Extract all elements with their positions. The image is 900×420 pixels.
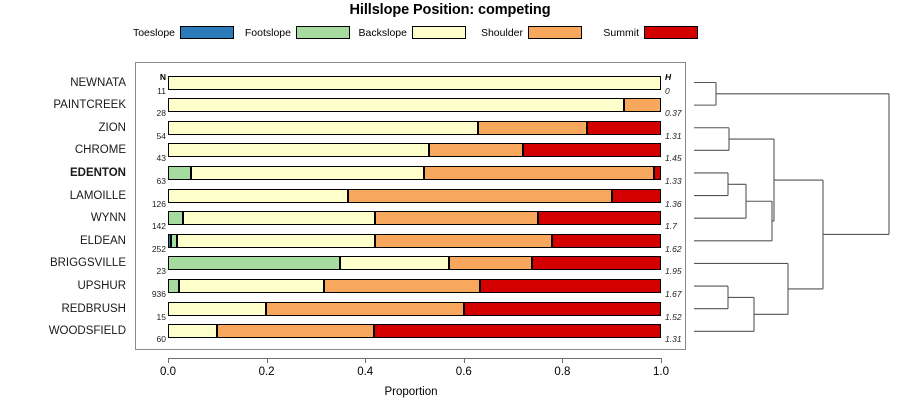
- x-axis-tick: [168, 358, 169, 363]
- bar-segment-summit: [587, 121, 661, 135]
- category-label-zion: ZION: [0, 122, 132, 134]
- bar-segment-summit: [654, 166, 661, 180]
- bar-segment-shoulder: [375, 211, 538, 225]
- bar-segment-summit: [523, 143, 661, 157]
- x-axis-tick: [365, 358, 366, 363]
- legend-swatch-shoulder: [528, 26, 582, 39]
- bar-briggsville: [168, 256, 661, 270]
- x-axis-tick-label: 0.6: [444, 366, 484, 378]
- category-label-redbrush: REDBRUSH: [0, 303, 132, 315]
- n-value: 23: [138, 266, 166, 276]
- category-label-wynn: WYNN: [0, 212, 132, 224]
- category-label-lamoille: LAMOILLE: [0, 190, 132, 202]
- bar-segment-backslope: [183, 211, 375, 225]
- bar-segment-summit: [374, 324, 661, 338]
- n-value: 126: [138, 199, 166, 209]
- chart-root: Hillslope Position: competing ToeslopeFo…: [0, 0, 900, 420]
- x-axis-tick-label: 1.0: [641, 366, 681, 378]
- bar-edenton: [168, 166, 661, 180]
- category-label-paintcreek: PAINTCREEK: [0, 99, 132, 111]
- bar-segment-shoulder: [324, 279, 479, 293]
- bar-segment-shoulder: [449, 256, 533, 270]
- n-value: 15: [138, 312, 166, 322]
- dendrogram: [686, 62, 900, 350]
- legend-label: Toeslope: [133, 26, 175, 40]
- legend-swatch-backslope: [412, 26, 466, 39]
- x-axis-tick: [464, 358, 465, 363]
- category-label-upshur: UPSHUR: [0, 280, 132, 292]
- bar-chrome: [168, 143, 661, 157]
- n-value: 60: [138, 334, 166, 344]
- bar-segment-summit: [480, 279, 661, 293]
- bar-segment-backslope: [191, 166, 424, 180]
- n-value: 54: [138, 131, 166, 141]
- bar-segment-summit: [538, 211, 661, 225]
- category-label-chrome: CHROME: [0, 144, 132, 156]
- n-value: 43: [138, 153, 166, 163]
- bar-segment-footslope: [168, 211, 183, 225]
- bar-segment-backslope: [168, 143, 429, 157]
- bar-segment-shoulder: [624, 98, 661, 112]
- bar-segment-shoulder: [266, 302, 464, 316]
- x-axis-tick-label: 0.4: [345, 366, 385, 378]
- bar-segment-summit: [612, 189, 661, 203]
- x-axis-tick-label: 0.2: [247, 366, 287, 378]
- bar-segment-backslope: [168, 121, 478, 135]
- legend-label: Backslope: [359, 26, 407, 40]
- bar-woodsfield: [168, 324, 661, 338]
- legend-swatch-footslope: [296, 26, 350, 39]
- bar-segment-shoulder: [429, 143, 523, 157]
- bar-zion: [168, 121, 661, 135]
- category-label-woodsfield: WOODSFIELD: [0, 325, 132, 337]
- bar-lamoille: [168, 189, 661, 203]
- bar-newnata: [168, 76, 661, 90]
- legend-label: Shoulder: [481, 26, 523, 40]
- legend-swatch-toeslope: [180, 26, 234, 39]
- category-label-briggsville: BRIGGSVILLE: [0, 257, 132, 269]
- legend-swatch-summit: [644, 26, 698, 39]
- x-axis-tick: [661, 358, 662, 363]
- n-value: 252: [138, 244, 166, 254]
- n-value: 28: [138, 108, 166, 118]
- bar-segment-backslope: [168, 324, 217, 338]
- category-label-newnata: NEWNATA: [0, 77, 132, 89]
- n-value: 936: [138, 289, 166, 299]
- x-axis-tick: [267, 358, 268, 363]
- chart-title: Hillslope Position: competing: [0, 2, 900, 18]
- n-value: 11: [138, 86, 166, 96]
- bar-wynn: [168, 211, 661, 225]
- x-axis-line: [168, 358, 661, 359]
- bar-upshur: [168, 279, 661, 293]
- bar-segment-shoulder: [348, 189, 612, 203]
- category-label-eldean: ELDEAN: [0, 235, 132, 247]
- bar-segment-backslope: [168, 189, 348, 203]
- legend-label: Summit: [603, 26, 639, 40]
- bar-segment-backslope: [168, 76, 661, 90]
- bar-segment-summit: [552, 234, 661, 248]
- x-axis-title: Proportion: [0, 386, 822, 398]
- x-axis-tick-label: 0.8: [542, 366, 582, 378]
- bar-segment-footslope: [168, 166, 191, 180]
- bar-segment-summit: [532, 256, 661, 270]
- legend: ToeslopeFootslopeBackslopeShoulderSummit: [118, 25, 718, 41]
- dendrogram-svg: [686, 62, 900, 350]
- category-label-edenton: EDENTON: [0, 167, 132, 179]
- bar-segment-backslope: [168, 98, 624, 112]
- n-value: 142: [138, 221, 166, 231]
- bar-segment-backslope: [179, 279, 324, 293]
- n-column-header: N: [138, 72, 166, 82]
- n-value: 63: [138, 176, 166, 186]
- legend-label: Footslope: [245, 26, 291, 40]
- bar-segment-shoulder: [375, 234, 552, 248]
- bar-paintcreek: [168, 98, 661, 112]
- bar-segment-footslope: [168, 279, 179, 293]
- bar-segment-summit: [464, 302, 661, 316]
- x-axis-tick: [562, 358, 563, 363]
- bar-redbrush: [168, 302, 661, 316]
- bar-segment-backslope: [168, 302, 266, 316]
- bar-segment-shoulder: [424, 166, 654, 180]
- bar-eldean: [168, 234, 661, 248]
- x-axis-tick-label: 0.0: [148, 366, 188, 378]
- bar-segment-backslope: [340, 256, 449, 270]
- bar-segment-shoulder: [478, 121, 587, 135]
- bar-segment-footslope: [168, 256, 340, 270]
- bar-segment-shoulder: [217, 324, 374, 338]
- bar-segment-backslope: [177, 234, 374, 248]
